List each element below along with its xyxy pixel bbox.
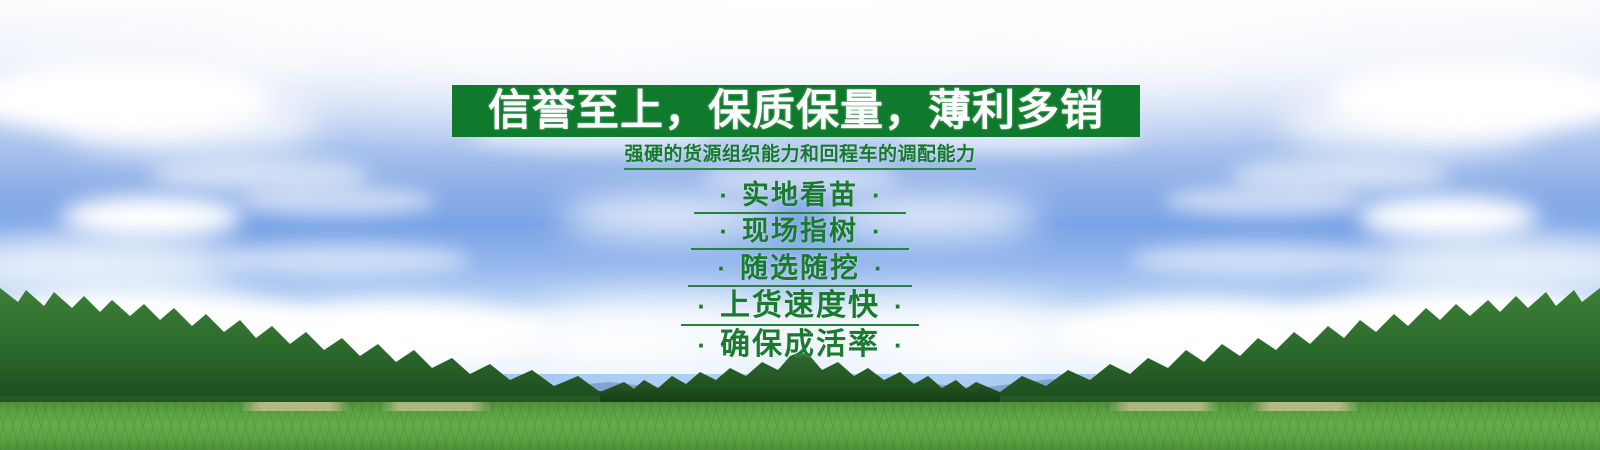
bullet-dot-icon: · <box>719 218 728 244</box>
bullet-dot-icon: · <box>717 255 726 281</box>
feature-label: 随选随挖 <box>726 254 874 282</box>
bullet-dot-icon: · <box>697 293 706 319</box>
bullet-dot-icon: · <box>697 332 706 358</box>
feature-item-1: · 实地看苗 · <box>684 178 916 212</box>
headline-text: 信誉至上，保质保量，薄利多销 <box>488 90 1104 133</box>
bullet-dot-icon: · <box>894 332 903 358</box>
bullet-dot-icon: · <box>872 182 881 208</box>
feature-item-5: · 确保成活率 · <box>669 326 931 364</box>
headline-bar: 信誉至上，保质保量，薄利多销 <box>452 85 1140 137</box>
bullet-dot-icon: · <box>874 255 883 281</box>
feature-item-4: · 上货速度快 · <box>671 287 929 324</box>
feature-list: · 实地看苗 · · 现场指树 · · 随选随挖 · · 上货速度快 · <box>0 178 1600 364</box>
feature-item-2: · 现场指树 · <box>681 214 919 248</box>
subtitle: 强硬的货源组织能力和回程车的调配能力 <box>0 144 1600 170</box>
bullet-dot-icon: · <box>872 218 881 244</box>
feature-label: 确保成活率 <box>706 330 894 360</box>
feature-label: 现场指树 <box>728 218 872 245</box>
bullet-dot-icon: · <box>894 293 903 319</box>
feature-label: 上货速度快 <box>706 291 894 321</box>
subtitle-text: 强硬的货源组织能力和回程车的调配能力 <box>624 144 975 170</box>
bullet-dot-icon: · <box>719 182 728 208</box>
banner-content: 信誉至上，保质保量，薄利多销 强硬的货源组织能力和回程车的调配能力 · 实地看苗… <box>0 0 1600 450</box>
feature-label: 实地看苗 <box>728 182 872 209</box>
feature-item-3: · 随选随挖 · <box>678 250 922 285</box>
promotional-banner: 信誉至上，保质保量，薄利多销 强硬的货源组织能力和回程车的调配能力 · 实地看苗… <box>0 0 1600 450</box>
